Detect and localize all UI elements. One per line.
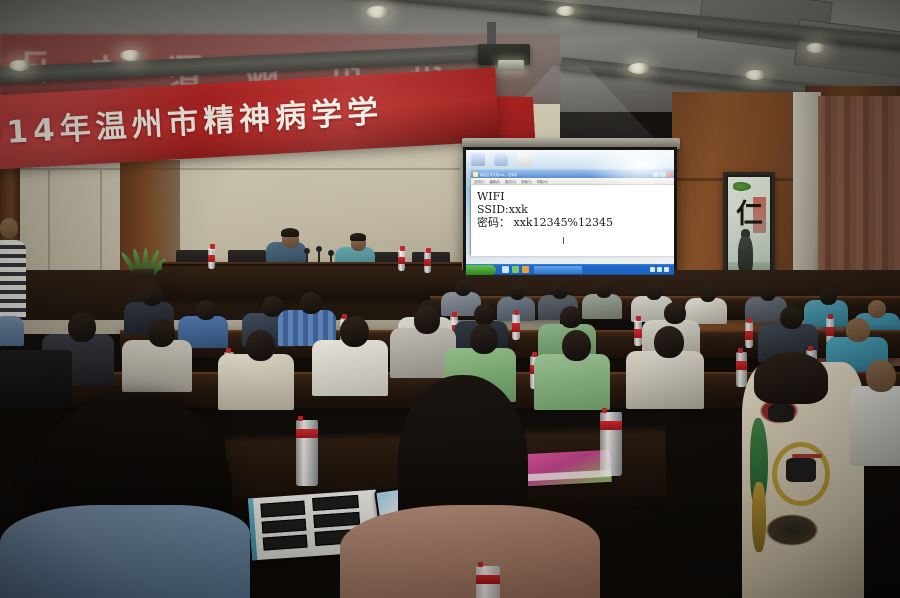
menu-item-edit[interactable]: 编辑(E) <box>489 179 500 184</box>
user-icon[interactable] <box>494 153 508 166</box>
wall-seam <box>0 168 460 170</box>
water-bottle <box>634 320 642 346</box>
window-title-bar[interactable]: 新建文本文档.txt - 记事本 <box>471 170 674 178</box>
water-bottle <box>745 322 753 348</box>
attendee-head <box>820 288 837 305</box>
wall-scroll-frame: 仁 <box>723 172 775 284</box>
network-icon[interactable] <box>471 153 485 166</box>
water-bottle <box>424 252 431 273</box>
plant-pot <box>132 269 154 278</box>
menu-item-help[interactable]: 帮助(H) <box>537 179 548 184</box>
attendee-head <box>510 285 525 300</box>
shield-icon[interactable] <box>664 267 669 272</box>
quick-launch[interactable] <box>500 266 529 273</box>
menu-bar[interactable]: 文件(F) 编辑(E) 格式(O) 查看(V) 帮助(H) <box>471 178 674 185</box>
taskbar-window-button[interactable] <box>534 266 582 274</box>
close-button[interactable] <box>667 172 673 177</box>
attendee-head <box>866 360 896 392</box>
text-line-wifi: WIFI <box>477 190 674 203</box>
text-line-ssid: SSID:xxk <box>477 203 674 216</box>
attendee-hair <box>754 352 828 404</box>
leaf-logo-icon <box>733 182 751 191</box>
projector-lens-icon <box>498 60 524 71</box>
water-bottle <box>476 566 500 598</box>
taskbar[interactable] <box>466 264 674 275</box>
attendee-head <box>470 324 498 354</box>
attendee-head <box>560 306 582 328</box>
projection-screen: 新建文本文档.txt - 记事本 文件(F) 编辑(E) 格式(O) 查看(V)… <box>466 150 674 275</box>
ceiling-downlight <box>120 50 142 61</box>
conference-proceedings[interactable] <box>524 450 612 486</box>
potted-plant <box>120 236 164 278</box>
attendee-torso <box>850 386 900 466</box>
booklet-panel <box>262 519 307 534</box>
attendee-head <box>780 306 803 329</box>
attendee-head <box>196 300 216 320</box>
scroll-character: 仁 <box>736 201 763 228</box>
attendee-head <box>868 300 886 318</box>
attendee-head <box>68 312 96 342</box>
window-controls[interactable] <box>653 172 673 177</box>
blouse-pattern <box>792 454 822 458</box>
volume-icon[interactable] <box>650 267 655 272</box>
attendee-head <box>646 284 662 300</box>
maximize-button[interactable] <box>660 172 666 177</box>
foreground-attendee-shoulders <box>340 505 600 598</box>
attendee-head <box>340 316 369 347</box>
booklet-panel <box>312 495 359 511</box>
blouse-pattern <box>786 458 816 482</box>
booklet-panel <box>313 512 360 528</box>
water-bottle <box>512 314 520 340</box>
ceiling-downlight <box>556 6 576 16</box>
ceiling-downlight <box>806 43 826 53</box>
ceiling-downlight <box>745 70 766 80</box>
wall-scroll-artwork: 仁 <box>728 177 770 279</box>
blouse-pattern <box>762 512 822 548</box>
ceiling-downlight <box>366 6 390 18</box>
booklet-panel <box>260 501 305 518</box>
attendee-head <box>760 285 776 301</box>
attendee-head <box>596 282 612 298</box>
attendee-head <box>562 330 591 361</box>
standing-attendee-head <box>0 218 18 238</box>
attendee-torso <box>626 351 704 409</box>
text-line-password: 密码： xxk12345%12345 <box>477 216 674 229</box>
attendee-head <box>700 286 716 302</box>
attendee-head <box>414 306 440 334</box>
notepad-window[interactable]: 新建文本文档.txt - 记事本 文件(F) 编辑(E) 格式(O) 查看(V)… <box>470 169 674 255</box>
blouse-pattern <box>768 404 794 422</box>
minimize-button[interactable] <box>653 172 659 177</box>
ceiling-downlight <box>9 60 31 71</box>
attendee-head <box>664 302 686 324</box>
attendee-head <box>846 318 870 342</box>
system-tray[interactable] <box>650 265 674 274</box>
standing-attendee-torso <box>0 240 26 318</box>
attendee-head <box>455 280 471 296</box>
window-title-text: 新建文本文档.txt - 记事本 <box>480 172 653 177</box>
attendee-torso <box>312 340 388 396</box>
water-bottle <box>736 352 747 387</box>
text-caret <box>563 237 564 244</box>
folder-icon[interactable] <box>522 266 529 273</box>
blouse-pattern <box>752 482 766 552</box>
water-bottle <box>600 412 622 476</box>
attendee-head <box>474 304 495 325</box>
equipment-case-body <box>0 350 72 406</box>
desktop-icons <box>471 153 531 166</box>
banner-text: 014年温州市精神病学学 <box>0 79 510 154</box>
attendee-torso <box>218 354 294 410</box>
water-bottle <box>398 250 405 271</box>
attendee-head <box>142 286 162 306</box>
attendee-head <box>148 318 175 347</box>
presenter-hair <box>350 233 366 241</box>
menu-item-file[interactable]: 文件(F) <box>474 179 484 184</box>
notepad-icon <box>473 172 478 177</box>
ceiling-downlight <box>628 63 650 74</box>
standing-attendee-jeans <box>0 316 24 346</box>
start-button[interactable] <box>466 265 496 275</box>
presenter-hair <box>281 228 299 237</box>
book-cover-band <box>525 470 611 481</box>
booklet-panel <box>263 535 308 551</box>
text-area[interactable]: WIFI SSID:xxk 密码： xxk12345%12345 <box>471 185 674 256</box>
attendee-head <box>246 330 275 361</box>
menu-item-format[interactable]: 格式(O) <box>505 179 516 184</box>
attendee-head <box>654 326 684 358</box>
conference-room-photo: 년 4 温 州 市 精 仁 <box>0 0 900 598</box>
folder-icon[interactable] <box>517 153 531 166</box>
browser-icon[interactable] <box>502 266 509 273</box>
network-tray-icon[interactable] <box>657 267 662 272</box>
media-icon[interactable] <box>512 266 519 273</box>
attendee-torso <box>534 354 610 410</box>
water-bottle <box>208 248 215 269</box>
attendee-torso <box>122 340 192 392</box>
attendee-head <box>552 283 568 299</box>
menu-item-view[interactable]: 查看(V) <box>521 179 532 184</box>
water-bottle <box>296 420 318 486</box>
foreground-attendee-denim-jacket <box>0 505 250 598</box>
attendee-head <box>300 292 322 314</box>
projection-screen-frame: 新建文本文档.txt - 记事本 文件(F) 编辑(E) 格式(O) 查看(V)… <box>463 147 677 278</box>
scroll-figure-icon <box>738 235 753 273</box>
